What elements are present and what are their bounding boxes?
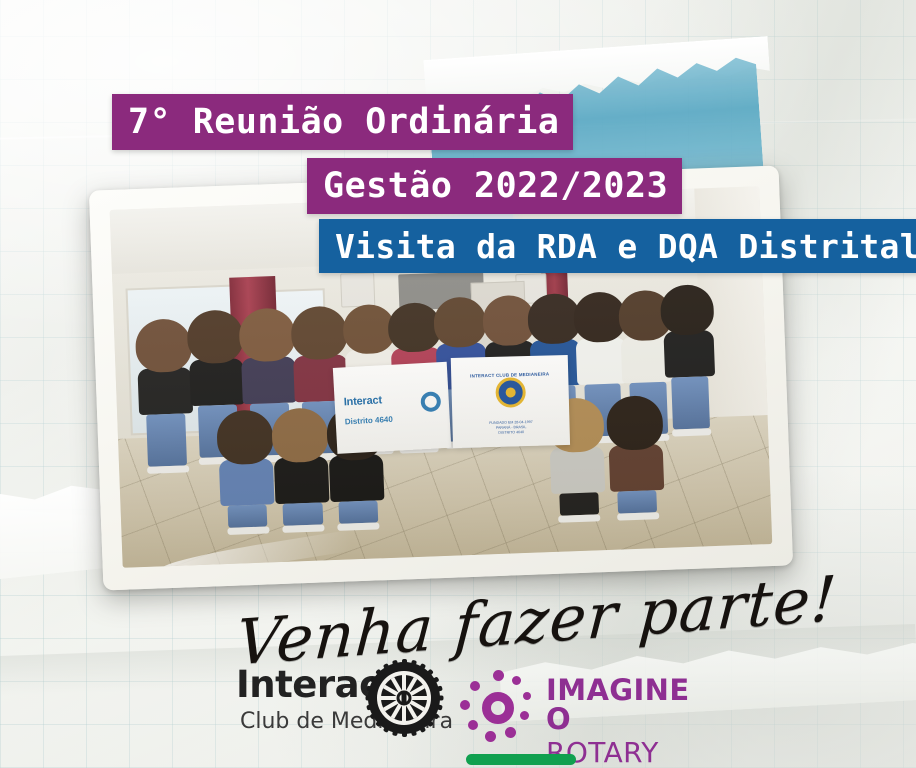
- interact-crest-icon: [495, 377, 526, 408]
- interact-club-logo: Interact Club de Medianeira: [236, 666, 456, 752]
- photo-person: [666, 290, 714, 436]
- photo-person: [611, 402, 661, 521]
- banner-club-footer-text: FUNDADO EM 28-04-1997PARANÁ - BRASILDIST…: [489, 420, 533, 436]
- photo-banner-club: INTERACT CLUB DE MEDIANEIRA FUNDADO EM 2…: [451, 355, 570, 448]
- title-line1-text: 7° Reunião Ordinária: [128, 102, 559, 142]
- gear-keyway: [402, 694, 407, 703]
- rotary-gear-icon: [420, 391, 441, 412]
- rotary-wheel-icon: [368, 662, 440, 734]
- photo-person: [277, 414, 327, 533]
- banner-interact-title: Interact: [343, 394, 382, 410]
- title-bar-line3: Visita da RDA e DQA Distrital: [319, 219, 916, 273]
- rotary-sunburst-icon: [460, 670, 536, 746]
- photo-person: [221, 416, 271, 535]
- poster-canvas: Interact Distrito 4640 INTERACT CLUB DE …: [0, 0, 916, 768]
- imagine-rotary-logo: IMAGINE O ROTARY: [460, 666, 710, 758]
- title-bar-line1: 7° Reunião Ordinária: [112, 94, 573, 150]
- imagine-line1: IMAGINE O: [546, 676, 710, 734]
- photo-person: [140, 324, 191, 473]
- sunburst-core: [482, 692, 514, 724]
- green-underline-accent: [466, 754, 576, 765]
- banner-interact-subtitle: Distrito 4640: [344, 414, 392, 426]
- title-line2-text: Gestão 2022/2023: [323, 166, 668, 206]
- photo-banner-interact: Interact Distrito 4640: [333, 362, 451, 454]
- title-bar-line2: Gestão 2022/2023: [307, 158, 682, 214]
- photo-speaker: [340, 272, 376, 307]
- title-line3-text: Visita da RDA e DQA Distrital: [335, 227, 916, 266]
